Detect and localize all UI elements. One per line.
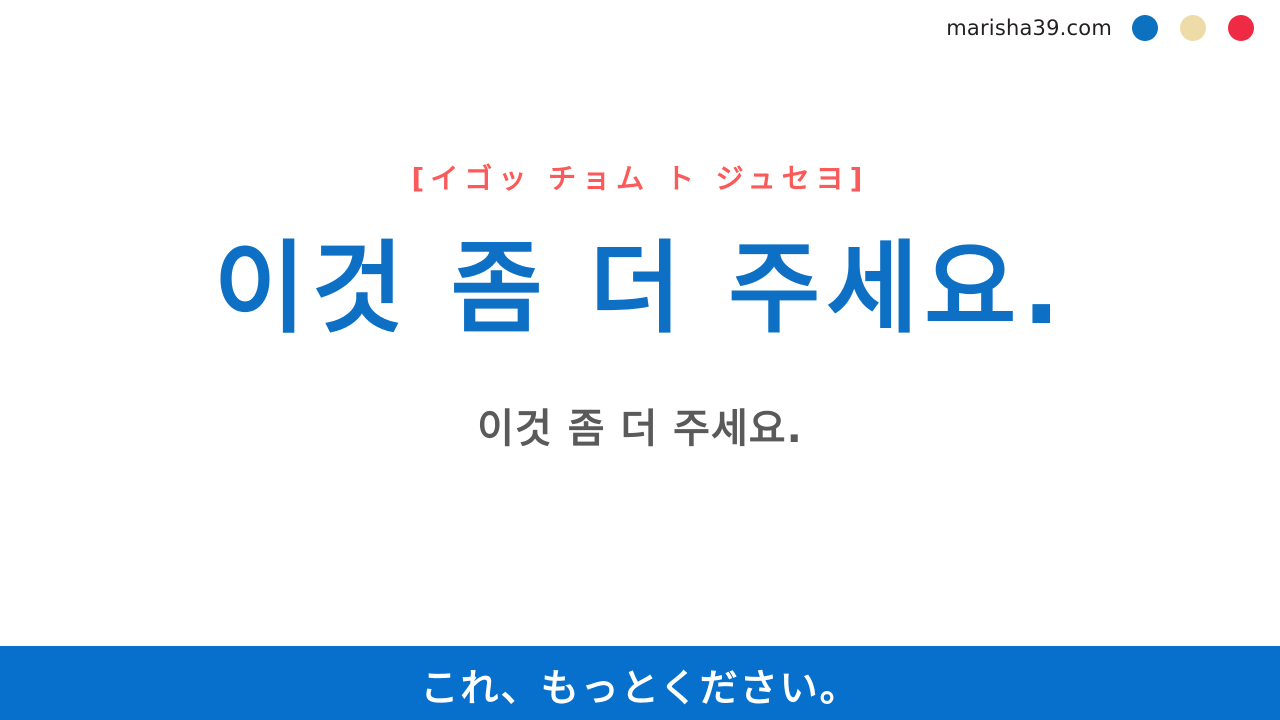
korean-phrase-subline: 이것 좀 더 주세요. <box>477 396 803 454</box>
page-header: marisha39.com <box>0 0 1280 56</box>
main-content: [イゴッ チョム ト ジュセヨ] 이것 좀 더 주세요. 이것 좀 더 주세요. <box>0 56 1280 646</box>
pronunciation-katakana: [イゴッ チョム ト ジュセヨ] <box>412 164 869 195</box>
korean-phrase-headline: 이것 좀 더 주세요. <box>214 231 1066 346</box>
translation-banner: これ、もっとください。 <box>0 646 1280 720</box>
red-dot-icon <box>1228 15 1254 41</box>
color-dot-group <box>1132 15 1254 41</box>
blue-dot-icon <box>1132 15 1158 41</box>
japanese-translation: これ、もっとください。 <box>420 657 859 712</box>
site-name: marisha39.com <box>946 16 1112 40</box>
cream-dot-icon <box>1180 15 1206 41</box>
